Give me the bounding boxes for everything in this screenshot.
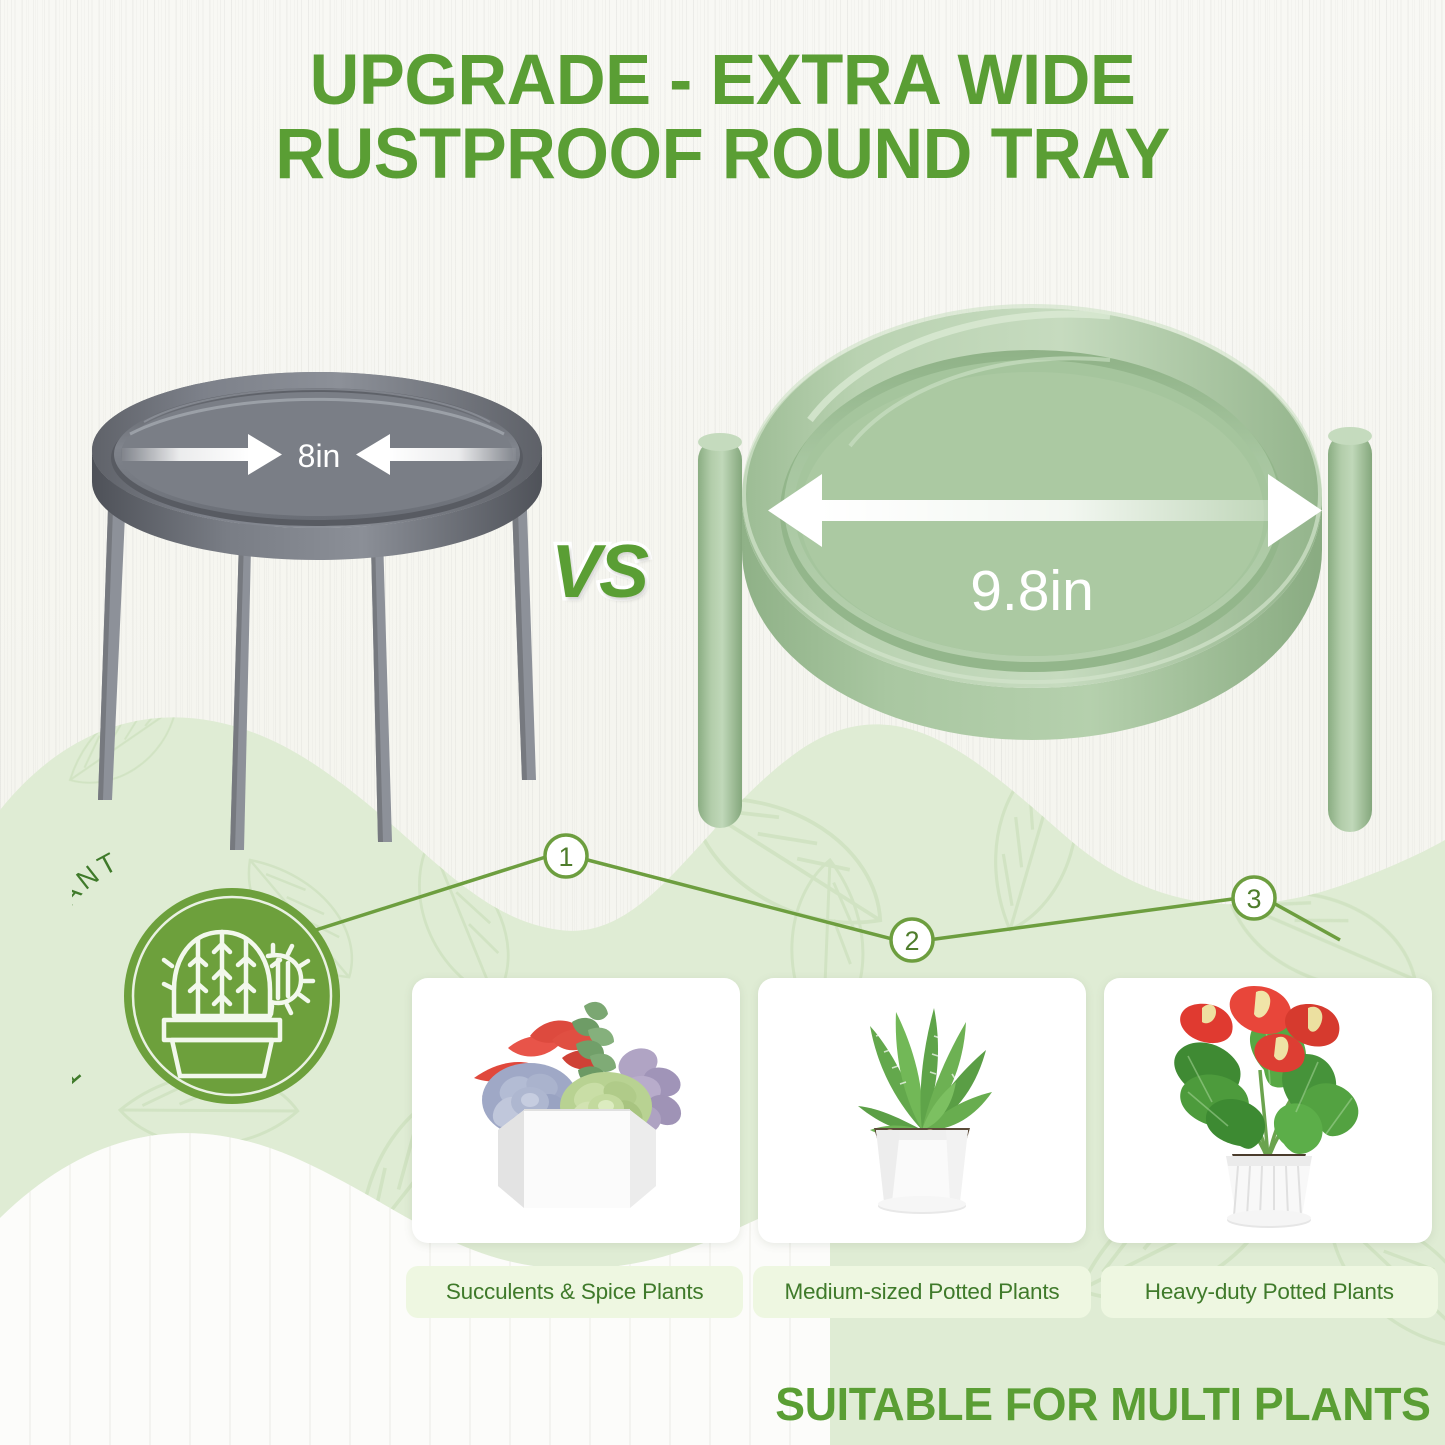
step-number-2: 2	[904, 926, 919, 956]
succulents-plant-image	[412, 978, 740, 1243]
footer-banner-text: SUITABLE FOR MULTI PLANTS	[776, 1377, 1431, 1431]
aloe-plant-image	[758, 978, 1086, 1243]
step-marker: 2	[891, 919, 933, 961]
gray-tray-size-label: 8in	[298, 438, 341, 474]
title-line-1: UPGRADE - EXTRA WIDE	[22, 44, 1424, 118]
plant-card[interactable]	[412, 978, 740, 1243]
vs-badge: VS	[551, 528, 647, 614]
green-tray-size-label: 9.8in	[970, 559, 1094, 623]
aloe-leaves	[858, 1008, 992, 1138]
step-marker: 3	[1233, 877, 1275, 919]
plant-captions-row: Succulents & Spice Plants Medium-sized P…	[406, 1266, 1438, 1318]
badge-circle	[124, 888, 340, 1104]
plant-caption: Succulents & Spice Plants	[406, 1266, 743, 1318]
title-line-2: RUSTPROOF ROUND TRAY	[22, 118, 1424, 192]
step-marker: 1	[545, 835, 587, 877]
green-side-table-illustration: 9.8in	[690, 250, 1410, 840]
step-number-3: 3	[1246, 884, 1261, 914]
hexagonal-pot	[498, 1110, 656, 1208]
step-number-1: 1	[558, 842, 573, 872]
plant-caption: Heavy-duty Potted Plants	[1101, 1266, 1438, 1318]
infographic-canvas: UPGRADE - EXTRA WIDE RUSTPROOF ROUND TRA…	[0, 0, 1445, 1445]
potted-plant-badge: POTTED PLANT	[72, 848, 382, 1148]
round-pot	[876, 1130, 968, 1214]
anthurium-plant-image	[1104, 978, 1432, 1243]
plant-card[interactable]	[1104, 978, 1432, 1243]
badge-arc-text: POTTED PLANT	[72, 848, 125, 1093]
plant-cards-row	[412, 978, 1432, 1246]
ribbed-pot	[1226, 1156, 1312, 1228]
gray-side-table-illustration: 8in	[70, 330, 570, 850]
plant-caption: Medium-sized Potted Plants	[753, 1266, 1090, 1318]
plant-card[interactable]	[758, 978, 1086, 1243]
page-title: UPGRADE - EXTRA WIDE RUSTPROOF ROUND TRA…	[0, 44, 1445, 192]
